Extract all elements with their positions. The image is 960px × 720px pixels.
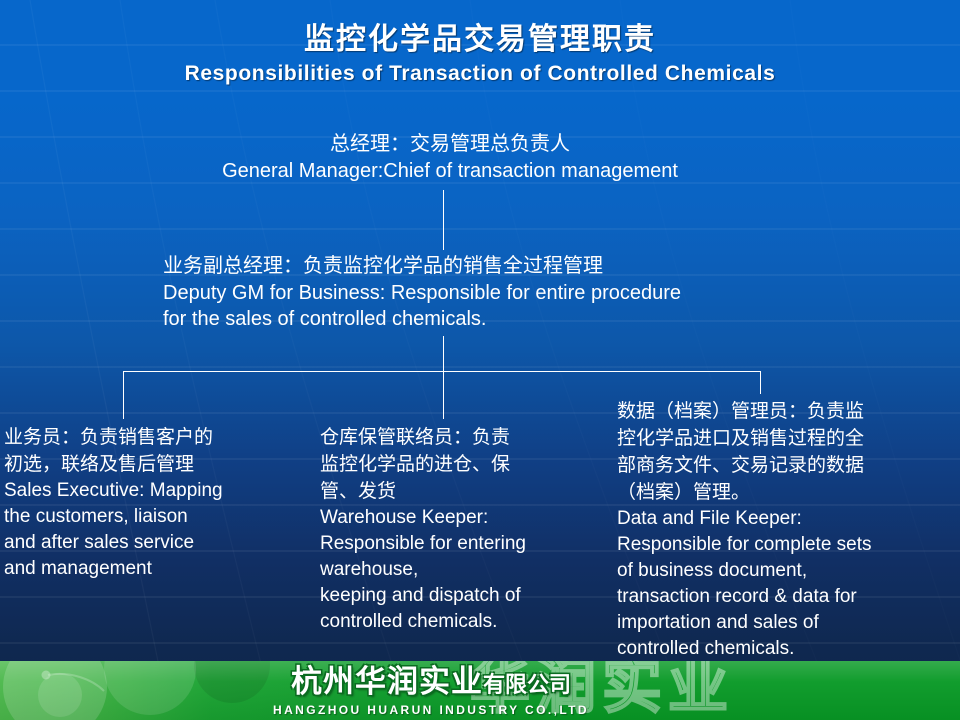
org-node-sales-executive-en: Sales Executive: Mapping the customers, … xyxy=(4,478,304,582)
org-node-sales-executive: 业务员：负责销售客户的 初选，联络及售后管理 Sales Executive: … xyxy=(4,424,304,582)
connector-horizontal-bus xyxy=(123,371,761,372)
footer-banner: 华润实业 杭州华润实业有限公司 HANGZHOU HUARUN INDUSTRY… xyxy=(0,661,960,720)
org-node-data-file-keeper-en: Data and File Keeper: Responsible for co… xyxy=(617,506,957,662)
org-node-deputy-gm-cn: 业务副总经理：负责监控化学品的销售全过程管理 xyxy=(163,252,843,280)
page-title-cn: 监控化学品交易管理职责 xyxy=(0,22,960,58)
company-logo: 杭州华润实业有限公司 HANGZHOU HUARUN INDUSTRY CO.,… xyxy=(196,665,666,718)
org-node-general-manager: 总经理：交易管理总负责人 General Manager:Chief of tr… xyxy=(130,130,770,184)
page-title: 监控化学品交易管理职责 Responsibilities of Transact… xyxy=(0,22,960,88)
connector-branch-warehouse xyxy=(443,371,444,419)
connector-deputy-down xyxy=(443,336,444,371)
connector-branch-sales xyxy=(123,371,124,419)
page-title-en: Responsibilities of Transaction of Contr… xyxy=(0,60,960,88)
org-node-deputy-gm-en: Deputy GM for Business: Responsible for … xyxy=(163,280,843,332)
org-node-general-manager-en: General Manager:Chief of transaction man… xyxy=(130,158,770,184)
connector-branch-data xyxy=(760,371,761,394)
connector-gm-to-deputy xyxy=(443,190,444,250)
org-node-data-file-keeper: 数据（档案）管理员：负责监 控化学品进口及销售过程的全 部商务文件、交易记录的数… xyxy=(617,398,957,662)
org-node-warehouse-keeper: 仓库保管联络员：负责 监控化学品的进仓、保 管、发货 Warehouse Kee… xyxy=(320,424,605,635)
org-node-general-manager-cn: 总经理：交易管理总负责人 xyxy=(130,130,770,158)
company-logo-en: HANGZHOU HUARUN INDUSTRY CO.,LTD xyxy=(196,703,666,718)
slide-canvas: 监控化学品交易管理职责 Responsibilities of Transact… xyxy=(0,0,960,720)
company-logo-cn-main: 杭州华润实业 xyxy=(291,664,483,699)
org-node-sales-executive-cn: 业务员：负责销售客户的 初选，联络及售后管理 xyxy=(4,424,304,478)
org-node-data-file-keeper-cn: 数据（档案）管理员：负责监 控化学品进口及销售过程的全 部商务文件、交易记录的数… xyxy=(617,398,957,506)
company-logo-cn: 杭州华润实业有限公司 xyxy=(196,665,666,702)
org-node-deputy-gm: 业务副总经理：负责监控化学品的销售全过程管理 Deputy GM for Bus… xyxy=(163,252,843,332)
org-node-warehouse-keeper-cn: 仓库保管联络员：负责 监控化学品的进仓、保 管、发货 xyxy=(320,424,605,505)
company-logo-cn-suffix: 有限公司 xyxy=(483,672,571,697)
org-node-warehouse-keeper-en: Warehouse Keeper: Responsible for enteri… xyxy=(320,505,605,635)
